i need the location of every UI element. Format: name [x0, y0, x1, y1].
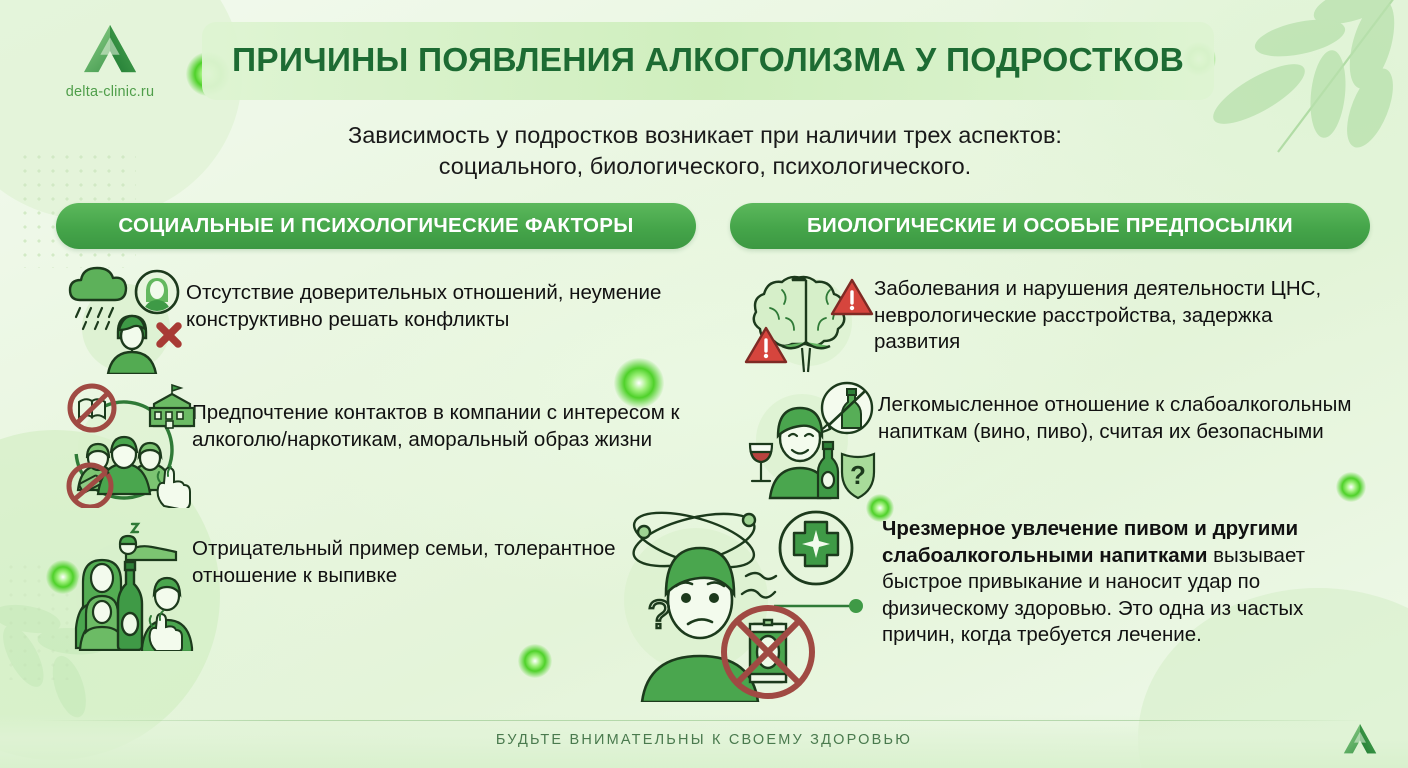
- footer-slogan: БУДЬТЕ ВНИМАТЕЛЬНЫ К СВОЕМУ ЗДОРОВЬЮ: [0, 732, 1408, 748]
- dizzy-teen-no-beer-can-medical-cross-icon: ?: [616, 496, 878, 702]
- list-item: ? Легкомысленное отношение к слабоалкого…: [730, 380, 1370, 500]
- list-item: Заболевания и нарушения деятельности ЦНС…: [730, 266, 1370, 374]
- list-item-text: Заболевания и нарушения деятельности ЦНС…: [874, 276, 1344, 356]
- subtitle-line-1: Зависимость у подростков возникает при н…: [200, 120, 1210, 151]
- delta-triangle-logo-icon: [81, 22, 139, 76]
- page-title-banner: ПРИЧИНЫ ПОЯВЛЕНИЯ АЛКОГОЛИЗМА У ПОДРОСТК…: [202, 22, 1214, 100]
- page-subtitle: Зависимость у подростков возникает при н…: [200, 120, 1210, 182]
- list-item: Предпочтение контактов в компании с инте…: [56, 378, 696, 508]
- section-heading-social: СОЦИАЛЬНЫЕ И ПСИХОЛОГИЧЕСКИЕ ФАКТОРЫ: [56, 203, 696, 249]
- footer-divider: [38, 720, 1370, 721]
- list-item: Отрицательный пример семьи, толерантное …: [56, 516, 696, 651]
- list-item-text: Чрезмерное увлечение пивом и другими сла…: [882, 516, 1370, 649]
- column-social-psychological: СОЦИАЛЬНЫЕ И ПСИХОЛОГИЧЕСКИЕ ФАКТОРЫ: [56, 203, 696, 651]
- page-footer: БУДЬТЕ ВНИМАТЕЛЬНЫ К СВОЕМУ ЗДОРОВЬЮ: [0, 714, 1408, 768]
- section-heading-biological: БИОЛОГИЧЕСКИЕ И ОСОБЫЕ ПРЕДПОСЫЛКИ: [730, 203, 1370, 249]
- section-heading-biological-label: БИОЛОГИЧЕСКИЕ И ОСОБЫЕ ПРЕДПОСЫЛКИ: [807, 214, 1293, 238]
- list-item: Отсутствие доверительных отношений, неум…: [56, 266, 696, 374]
- list-item: ?: [730, 496, 1370, 702]
- brain-warning-triangles-icon: [742, 266, 874, 374]
- list-item-text: Отрицательный пример семьи, толерантное …: [192, 536, 632, 589]
- delta-triangle-logo-footer-icon[interactable]: [1342, 722, 1378, 756]
- list-item-text: Предпочтение контактов в компании с инте…: [192, 400, 684, 453]
- teen-wine-beer-shield-question-icon: ?: [744, 380, 878, 500]
- family-drinking-bottle-icon: [56, 516, 206, 651]
- brand-site-label: delta-clinic.ru: [30, 84, 190, 100]
- section-heading-social-label: СОЦИАЛЬНЫЕ И ПСИХОЛОГИЧЕСКИЕ ФАКТОРЫ: [118, 214, 633, 238]
- page-title: ПРИЧИНЫ ПОЯВЛЕНИЯ АЛКОГОЛИЗМА У ПОДРОСТК…: [232, 42, 1184, 80]
- column-biological-special: БИОЛОГИЧЕСКИЕ И ОСОБЫЕ ПРЕДПОСЫЛКИ: [730, 203, 1370, 702]
- subtitle-line-2: социального, биологического, психологиче…: [200, 151, 1210, 182]
- no-school-no-books-peer-group-icon: [56, 378, 196, 508]
- brand-logo-block[interactable]: delta-clinic.ru: [30, 22, 190, 100]
- list-item-text: Легкомысленное отношение к слабоалкоголь…: [878, 392, 1354, 445]
- svg-text:?: ?: [850, 460, 866, 490]
- rain-cloud-sad-teen-broken-relationship-icon: [56, 266, 186, 374]
- svg-text:?: ?: [648, 593, 670, 637]
- list-item-text: Отсутствие доверительных отношений, неум…: [186, 280, 686, 333]
- leaf-branch-icon: [1204, 0, 1408, 167]
